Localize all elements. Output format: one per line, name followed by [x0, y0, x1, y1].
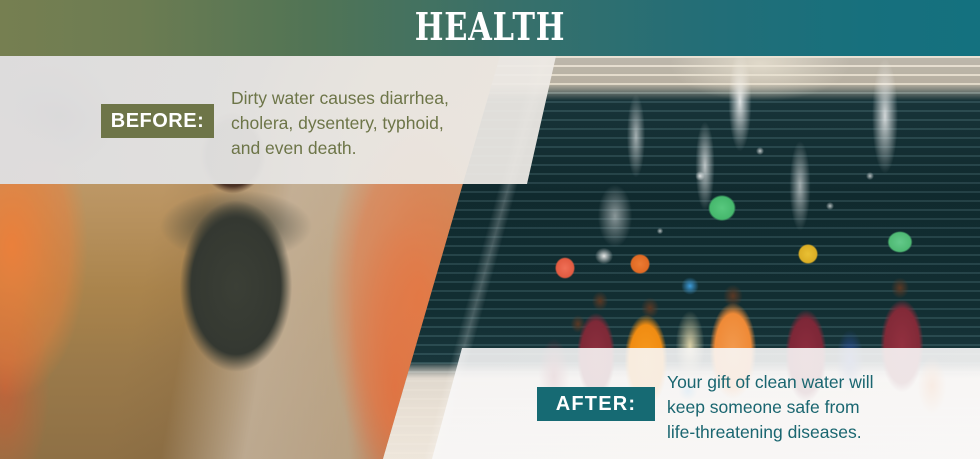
before-text: Dirty water causes diarrhea, cholera, dy… [231, 86, 531, 161]
before-text-line-2: cholera, dysentery, typhoid, [231, 111, 531, 136]
after-text-line-2: keep someone safe from [667, 395, 977, 420]
health-before-after-infographic: BEFORE: Dirty water causes diarrhea, cho… [0, 0, 980, 459]
before-text-line-3: and even death. [231, 136, 531, 161]
after-text: Your gift of clean water will keep someo… [667, 370, 977, 445]
after-text-line-3: life-threatening diseases. [667, 420, 977, 445]
header-band: HEALTH [0, 0, 980, 56]
after-badge: AFTER: [537, 387, 655, 421]
before-badge: BEFORE: [101, 104, 214, 138]
before-text-line-1: Dirty water causes diarrhea, [231, 86, 531, 111]
after-text-line-1: Your gift of clean water will [667, 370, 977, 395]
page-title: HEALTH [98, 0, 882, 56]
